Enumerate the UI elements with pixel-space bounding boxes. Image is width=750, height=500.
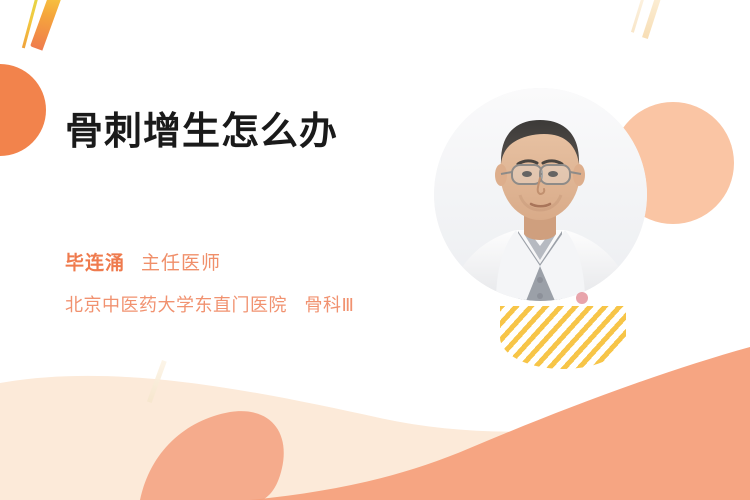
- hospital-line: 北京中医药大学东直门医院 骨科Ⅲ: [65, 291, 354, 317]
- avatar-circle: [434, 88, 647, 301]
- doctor-name-line: 毕连涌 主任医师: [65, 248, 221, 275]
- doctor-portrait: [434, 88, 647, 301]
- coat-logo-badge: [576, 292, 588, 304]
- avatar: [434, 88, 647, 301]
- hospital-name: 北京中医药大学东直门医院: [65, 295, 287, 315]
- doctor-info-card: 骨刺增生怎么办 毕连涌 主任医师 北京中医药大学东直门医院 骨科Ⅲ: [0, 0, 750, 500]
- striped-halfcircle-decoration: [500, 306, 626, 369]
- doctor-name: 毕连涌: [65, 248, 125, 275]
- title-block: 骨刺增生怎么办: [65, 110, 465, 156]
- doctor-role: 主任医师: [141, 248, 221, 275]
- department-name: 骨科Ⅲ: [305, 295, 355, 315]
- page-title: 骨刺增生怎么办: [65, 110, 465, 156]
